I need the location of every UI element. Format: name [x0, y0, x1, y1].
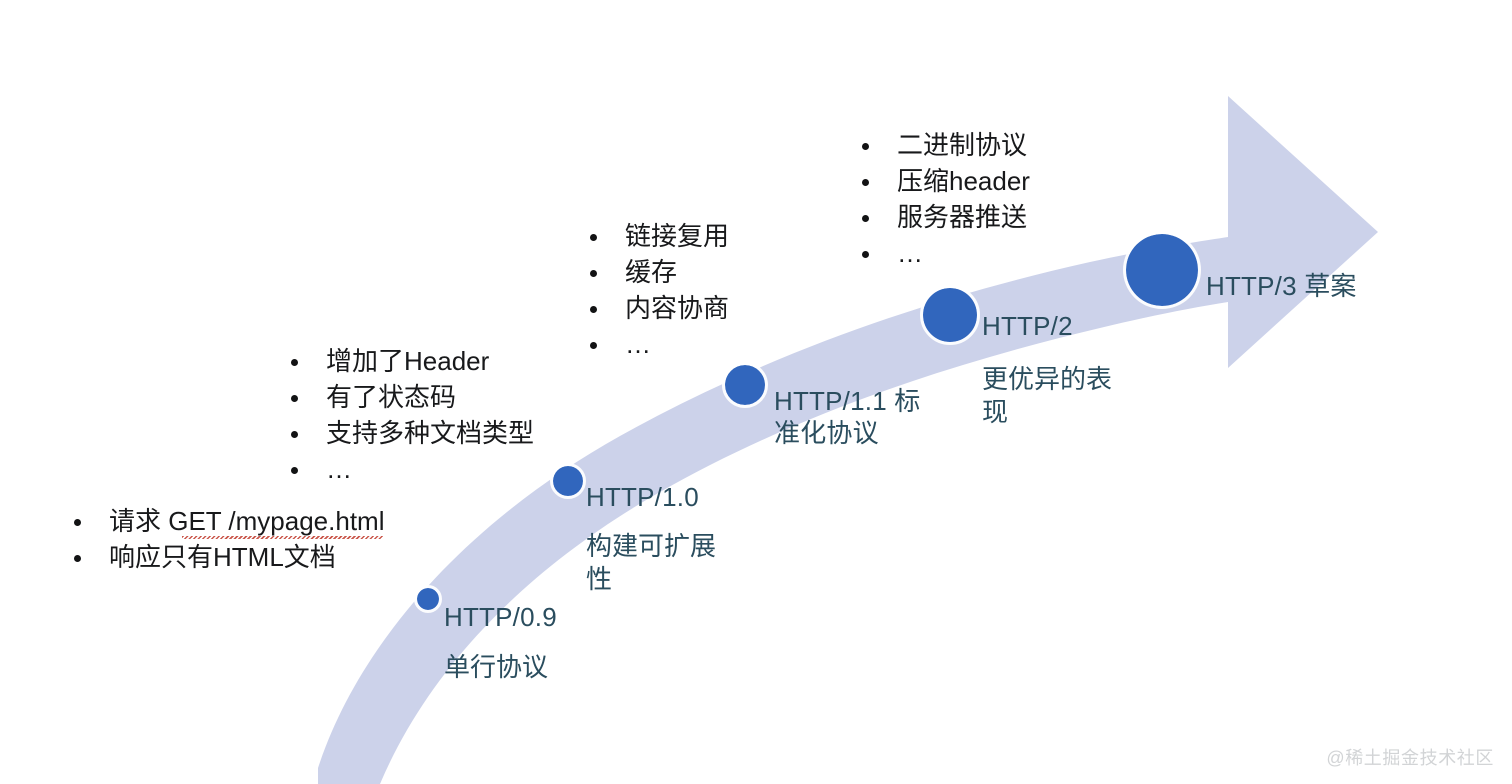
bullet-dot-icon — [74, 519, 81, 526]
bullet-dot-icon — [862, 179, 869, 186]
feature-text: 有了状态码 — [326, 380, 456, 416]
feature-text: 增加了Header — [326, 344, 489, 380]
bullet-dot-icon — [291, 395, 298, 402]
feature-item: … — [590, 327, 729, 363]
milestone-sublabel-http-1-0: 构建可扩展 性 — [586, 530, 746, 597]
milestone-label-http-0-9: HTTP/0.9 — [444, 602, 557, 634]
diagram-canvas: HTTP/0.9 单行协议 HTTP/1.0 构建可扩展 性 HTTP/1.1 … — [0, 0, 1512, 784]
milestone-label-http-2: HTTP/2 — [982, 311, 1073, 343]
feature-text: 二进制协议 — [897, 128, 1027, 164]
feature-item: 增加了Header — [291, 344, 534, 380]
feature-text: 支持多种文档类型 — [326, 416, 534, 452]
bullet-dot-icon — [862, 143, 869, 150]
feature-text: … — [326, 452, 354, 488]
bullet-dot-icon — [291, 359, 298, 366]
bullet-dot-icon — [862, 215, 869, 222]
feature-text: … — [897, 236, 925, 272]
feature-item: 内容协商 — [590, 291, 729, 327]
feature-item: … — [862, 236, 1030, 272]
feature-item: 请求 GET /mypage.html — [74, 504, 385, 540]
feature-item: … — [291, 452, 534, 488]
feature-text: 内容协商 — [625, 291, 729, 327]
bullet-dot-icon — [291, 467, 298, 474]
bullet-dot-icon — [291, 431, 298, 438]
bullet-dot-icon — [862, 251, 869, 258]
milestone-node-ring-http-2 — [920, 285, 980, 345]
feature-list-http-1-1: 链接复用 缓存 内容协商 … — [590, 219, 729, 363]
bullet-dot-icon — [590, 234, 597, 241]
bullet-dot-icon — [74, 555, 81, 562]
feature-list-http-2: 二进制协议 压缩header 服务器推送 … — [862, 128, 1030, 272]
feature-list-http-1-0: 增加了Header 有了状态码 支持多种文档类型 … — [291, 344, 534, 488]
feature-text: 服务器推送 — [897, 200, 1027, 236]
feature-text: 响应只有HTML文档 — [109, 540, 336, 576]
feature-item: 服务器推送 — [862, 200, 1030, 236]
milestone-sublabel-http-2: 更优异的表 现 — [982, 363, 1152, 430]
feature-item: 有了状态码 — [291, 380, 534, 416]
feature-text: 链接复用 — [625, 219, 729, 255]
milestone-node-ring-http-1-0 — [550, 463, 586, 499]
feature-text: 压缩header — [897, 164, 1030, 200]
bullet-dot-icon — [590, 342, 597, 349]
feature-item: 支持多种文档类型 — [291, 416, 534, 452]
feature-item: 缓存 — [590, 255, 729, 291]
bullet-dot-icon — [590, 270, 597, 277]
milestone-label-http-1-1: HTTP/1.1 标 准化协议 — [774, 386, 964, 449]
feature-text: 缓存 — [625, 255, 677, 291]
feature-item: 链接复用 — [590, 219, 729, 255]
feature-item: 压缩header — [862, 164, 1030, 200]
bullet-dot-icon — [590, 306, 597, 313]
feature-item: 响应只有HTML文档 — [74, 540, 385, 576]
milestone-node-ring-http-3 — [1123, 231, 1201, 309]
milestone-label-http-3: HTTP/3 草案 — [1206, 271, 1357, 303]
feature-list-http-0-9: 请求 GET /mypage.html 响应只有HTML文档 — [74, 504, 385, 576]
feature-text: 请求 GET /mypage.html — [109, 504, 385, 540]
feature-text: … — [625, 327, 653, 363]
milestone-sublabel-http-0-9: 单行协议 — [444, 651, 548, 684]
milestone-node-ring-http-1-1 — [722, 362, 768, 408]
milestone-label-http-1-0: HTTP/1.0 — [586, 482, 699, 514]
watermark: @稀土掘金技术社区 — [1326, 744, 1494, 770]
feature-item: 二进制协议 — [862, 128, 1030, 164]
milestone-node-ring-http-0-9 — [414, 585, 442, 613]
